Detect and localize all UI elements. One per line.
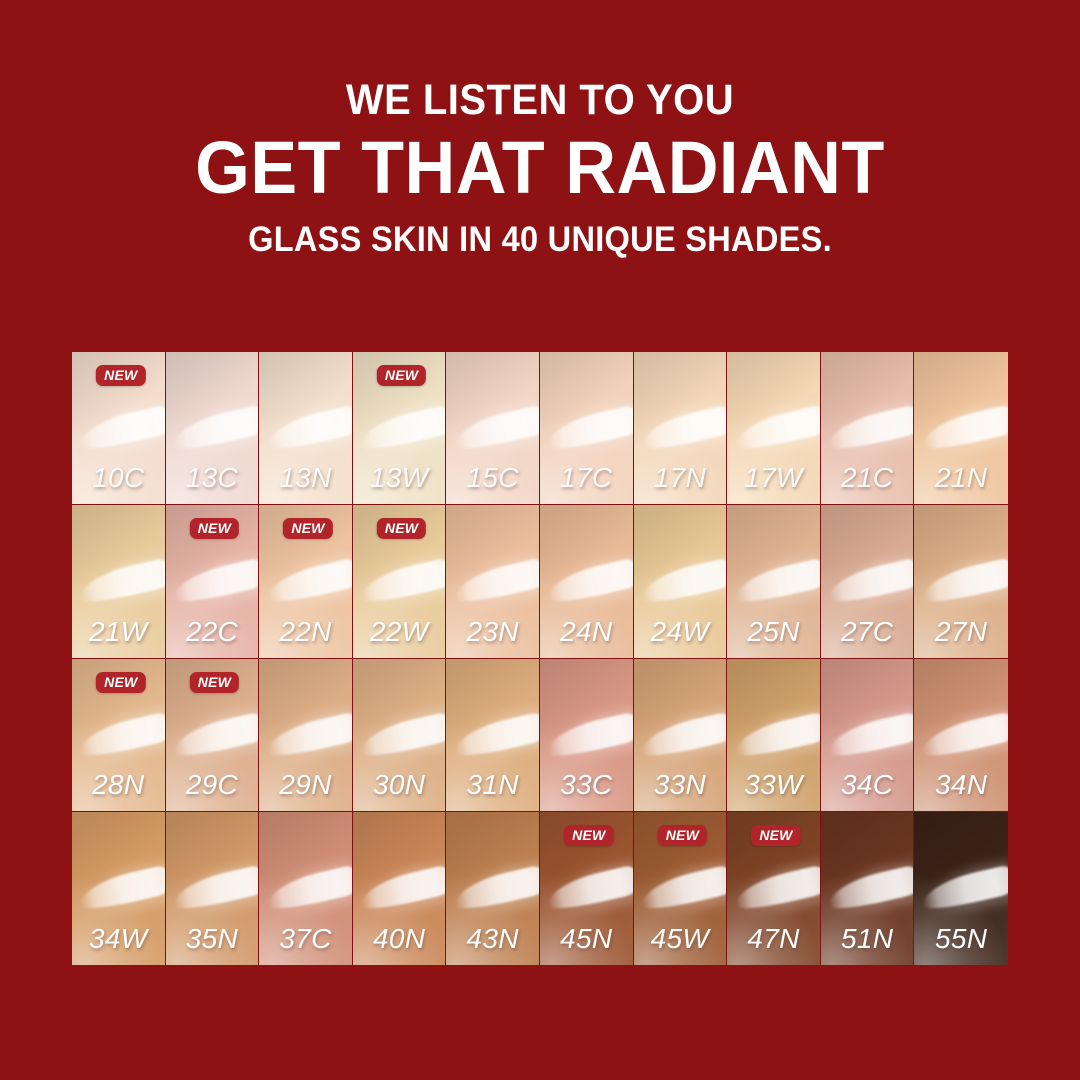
shade-code-label: 45N bbox=[540, 925, 633, 953]
shade-swatch[interactable]: NEW13W bbox=[353, 352, 447, 505]
shade-code-label: 43N bbox=[446, 925, 539, 953]
shade-swatch[interactable]: 29N bbox=[259, 659, 353, 812]
shade-swatch[interactable]: NEW22W bbox=[353, 505, 447, 658]
new-badge: NEW bbox=[96, 365, 145, 386]
shade-code-label: 22W bbox=[353, 618, 446, 646]
shade-swatch[interactable]: 37C bbox=[259, 812, 353, 965]
shade-code-label: 17C bbox=[540, 464, 633, 492]
shade-swatch[interactable]: 33N bbox=[634, 659, 728, 812]
shade-swatch[interactable]: NEW45N bbox=[540, 812, 634, 965]
shade-swatch[interactable]: 31N bbox=[446, 659, 540, 812]
shade-swatch[interactable]: 24W bbox=[634, 505, 728, 658]
shade-code-label: 21N bbox=[914, 464, 1008, 492]
shade-code-label: 23N bbox=[446, 618, 539, 646]
shade-code-label: 21C bbox=[821, 464, 914, 492]
shade-code-label: 31N bbox=[446, 771, 539, 799]
shade-swatch[interactable]: 34N bbox=[914, 659, 1008, 812]
new-badge: NEW bbox=[190, 518, 239, 539]
shade-code-label: 22C bbox=[166, 618, 259, 646]
shade-code-label: 25N bbox=[727, 618, 820, 646]
shade-code-label: 55N bbox=[914, 925, 1008, 953]
shade-swatch[interactable]: 23N bbox=[446, 505, 540, 658]
shade-swatch[interactable]: 24N bbox=[540, 505, 634, 658]
shade-code-label: 10C bbox=[72, 464, 165, 492]
shade-swatch-grid: NEW10C13C13NNEW13W15C17C17N17W21C21N21WN… bbox=[72, 352, 1008, 965]
shade-swatch[interactable]: 55N bbox=[914, 812, 1008, 965]
shade-code-label: 22N bbox=[259, 618, 352, 646]
shade-swatch[interactable]: 15C bbox=[446, 352, 540, 505]
shade-swatch[interactable]: 30N bbox=[353, 659, 447, 812]
shade-code-label: 33W bbox=[727, 771, 820, 799]
shade-code-label: 34N bbox=[914, 771, 1008, 799]
shade-code-label: 30N bbox=[353, 771, 446, 799]
shade-swatch[interactable]: 21N bbox=[914, 352, 1008, 505]
shade-code-label: 34C bbox=[821, 771, 914, 799]
shade-swatch[interactable]: 21W bbox=[72, 505, 166, 658]
shade-swatch[interactable]: NEW47N bbox=[727, 812, 821, 965]
new-badge: NEW bbox=[751, 825, 800, 846]
shade-range-poster: WE LISTEN TO YOU GET THAT RADIANT GLASS … bbox=[0, 0, 1080, 1080]
shade-swatch[interactable]: 35N bbox=[166, 812, 260, 965]
shade-swatch[interactable]: NEW22N bbox=[259, 505, 353, 658]
new-badge: NEW bbox=[564, 825, 613, 846]
shade-swatch[interactable]: 40N bbox=[353, 812, 447, 965]
shade-swatch[interactable]: 17C bbox=[540, 352, 634, 505]
shade-code-label: 35N bbox=[166, 925, 259, 953]
shade-code-label: 37C bbox=[259, 925, 352, 953]
new-badge: NEW bbox=[96, 672, 145, 693]
shade-code-label: 29N bbox=[259, 771, 352, 799]
shade-code-label: 13W bbox=[353, 464, 446, 492]
shade-code-label: 27N bbox=[914, 618, 1008, 646]
shade-code-label: 28N bbox=[72, 771, 165, 799]
shade-swatch[interactable]: 27C bbox=[821, 505, 915, 658]
shade-swatch[interactable]: 33C bbox=[540, 659, 634, 812]
shade-code-label: 13N bbox=[259, 464, 352, 492]
new-badge: NEW bbox=[283, 518, 332, 539]
shade-swatch[interactable]: 17W bbox=[727, 352, 821, 505]
new-badge: NEW bbox=[377, 365, 426, 386]
shade-swatch[interactable]: NEW22C bbox=[166, 505, 260, 658]
shade-swatch[interactable]: 17N bbox=[634, 352, 728, 505]
shade-swatch[interactable]: NEW45W bbox=[634, 812, 728, 965]
shade-swatch[interactable]: 43N bbox=[446, 812, 540, 965]
shade-code-label: 13C bbox=[166, 464, 259, 492]
shade-code-label: 33N bbox=[634, 771, 727, 799]
shade-code-label: 29C bbox=[166, 771, 259, 799]
shade-code-label: 47N bbox=[727, 925, 820, 953]
shade-code-label: 24N bbox=[540, 618, 633, 646]
shade-code-label: 33C bbox=[540, 771, 633, 799]
shade-code-label: 24W bbox=[634, 618, 727, 646]
new-badge: NEW bbox=[377, 518, 426, 539]
shade-swatch[interactable]: NEW29C bbox=[166, 659, 260, 812]
shade-code-label: 27C bbox=[821, 618, 914, 646]
new-badge: NEW bbox=[190, 672, 239, 693]
shade-swatch[interactable]: 13C bbox=[166, 352, 260, 505]
new-badge: NEW bbox=[658, 825, 707, 846]
shade-code-label: 17W bbox=[727, 464, 820, 492]
headline-sub: GLASS SKIN IN 40 UNIQUE SHADES. bbox=[38, 222, 1042, 259]
shade-swatch[interactable]: 25N bbox=[727, 505, 821, 658]
shade-swatch[interactable]: 13N bbox=[259, 352, 353, 505]
shade-code-label: 17N bbox=[634, 464, 727, 492]
shade-code-label: 34W bbox=[72, 925, 165, 953]
shade-swatch[interactable]: 34C bbox=[821, 659, 915, 812]
shade-swatch[interactable]: NEW10C bbox=[72, 352, 166, 505]
shade-code-label: 15C bbox=[446, 464, 539, 492]
shade-swatch[interactable]: 21C bbox=[821, 352, 915, 505]
shade-code-label: 21W bbox=[72, 618, 165, 646]
shade-swatch[interactable]: NEW28N bbox=[72, 659, 166, 812]
headline-main: GET THAT RADIANT bbox=[27, 129, 1053, 207]
shade-code-label: 40N bbox=[353, 925, 446, 953]
shade-swatch[interactable]: 34W bbox=[72, 812, 166, 965]
headline-eyebrow: WE LISTEN TO YOU bbox=[38, 78, 1042, 123]
shade-code-label: 45W bbox=[634, 925, 727, 953]
shade-swatch[interactable]: 51N bbox=[821, 812, 915, 965]
shade-swatch[interactable]: 27N bbox=[914, 505, 1008, 658]
shade-swatch[interactable]: 33W bbox=[727, 659, 821, 812]
shade-code-label: 51N bbox=[821, 925, 914, 953]
headline-block: WE LISTEN TO YOU GET THAT RADIANT GLASS … bbox=[0, 78, 1080, 258]
